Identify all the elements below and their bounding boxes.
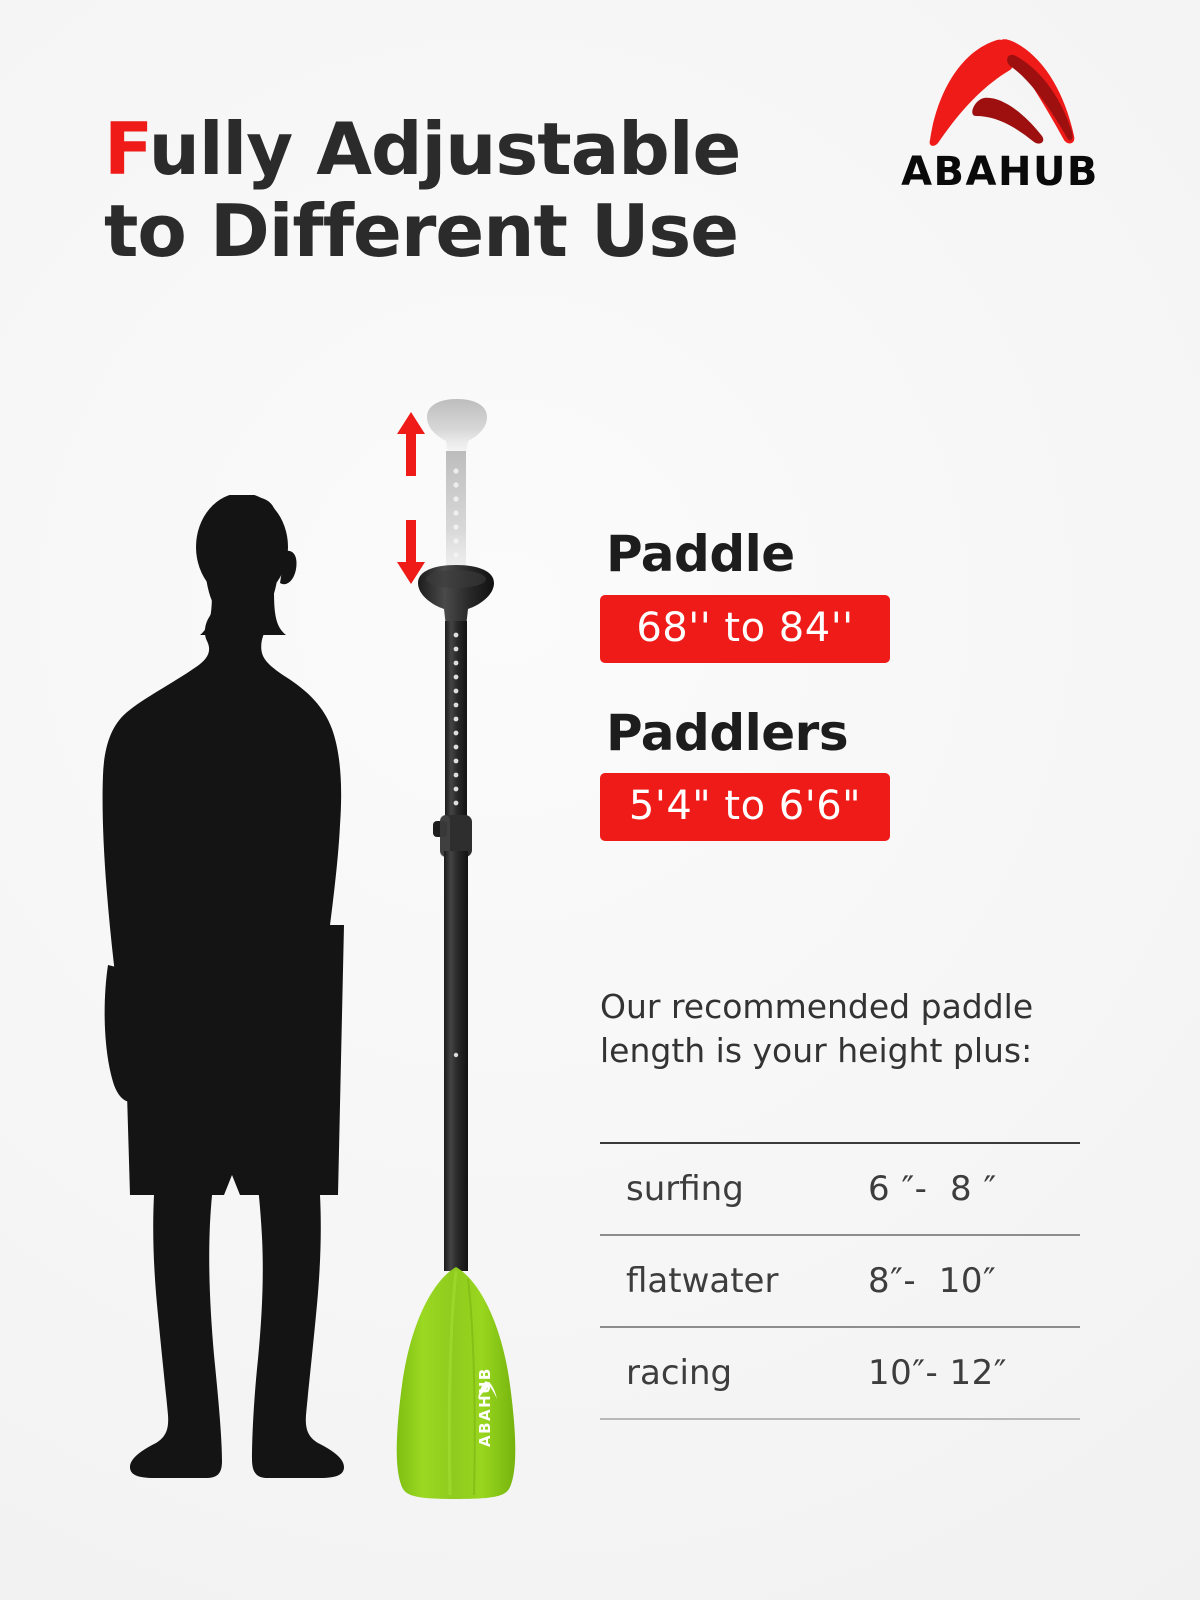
paddle-ghost-extension (427, 399, 487, 593)
recommended-length-table: surfing 6 ″- 8 ″ flatwater 8″- 10″ racin… (600, 1142, 1080, 1420)
page-title: Fully Adjustableto Different Use (104, 108, 864, 272)
blade-logo: ABAHUB (476, 1367, 497, 1447)
table-row: racing 10″- 12″ (600, 1327, 1080, 1419)
recommendation-text: Our recommended paddle length is your he… (600, 985, 1080, 1072)
table-cell-activity: surfing (600, 1143, 868, 1235)
spec-badge-paddlers-range: 5'4" to 6'6" (600, 773, 890, 841)
table-cell-activity: racing (600, 1327, 868, 1419)
abahub-wave-fin-icon (914, 36, 1086, 148)
table-cell-plus: 8″- 10″ (868, 1235, 1080, 1327)
table-cell-plus: 10″- 12″ (868, 1327, 1080, 1419)
paddler-silhouette (100, 495, 410, 1480)
page-title-line2: to Different Use (104, 189, 738, 273)
table-row: surfing 6 ″- 8 ″ (600, 1143, 1080, 1235)
arrow-down-icon (397, 520, 425, 584)
spec-badge-paddle-range: 68'' to 84'' (600, 595, 890, 663)
paddle-clamp-lever (433, 815, 472, 857)
svg-text:ABAHUB: ABAHUB (476, 1367, 494, 1447)
brand-logo: ABAHUB (880, 36, 1120, 206)
paddle-lower-shaft (444, 851, 468, 1271)
spec-callouts: Paddle 68'' to 84'' Paddlers 5'4" to 6'6… (600, 528, 1100, 841)
table-cell-plus: 6 ″- 8 ″ (868, 1143, 1080, 1235)
adjustment-arrows (392, 408, 432, 588)
paddle-blade: ABAHUB (397, 1267, 516, 1499)
table-cell-activity: flatwater (600, 1235, 868, 1327)
page-title-accent-letter: F (104, 107, 149, 191)
table-row: flatwater 8″- 10″ (600, 1235, 1080, 1327)
paddle-adjustment-shaft (445, 621, 467, 821)
page-title-line1: ully Adjustable (149, 107, 741, 191)
spec-group-paddlers: Paddlers 5'4" to 6'6" (600, 707, 1100, 842)
spec-title-paddle: Paddle (606, 528, 1100, 581)
spec-group-paddle: Paddle 68'' to 84'' (600, 528, 1100, 663)
arrow-up-icon (397, 412, 425, 476)
brand-wordmark: ABAHUB (901, 152, 1099, 192)
spec-title-paddlers: Paddlers (606, 707, 1100, 760)
